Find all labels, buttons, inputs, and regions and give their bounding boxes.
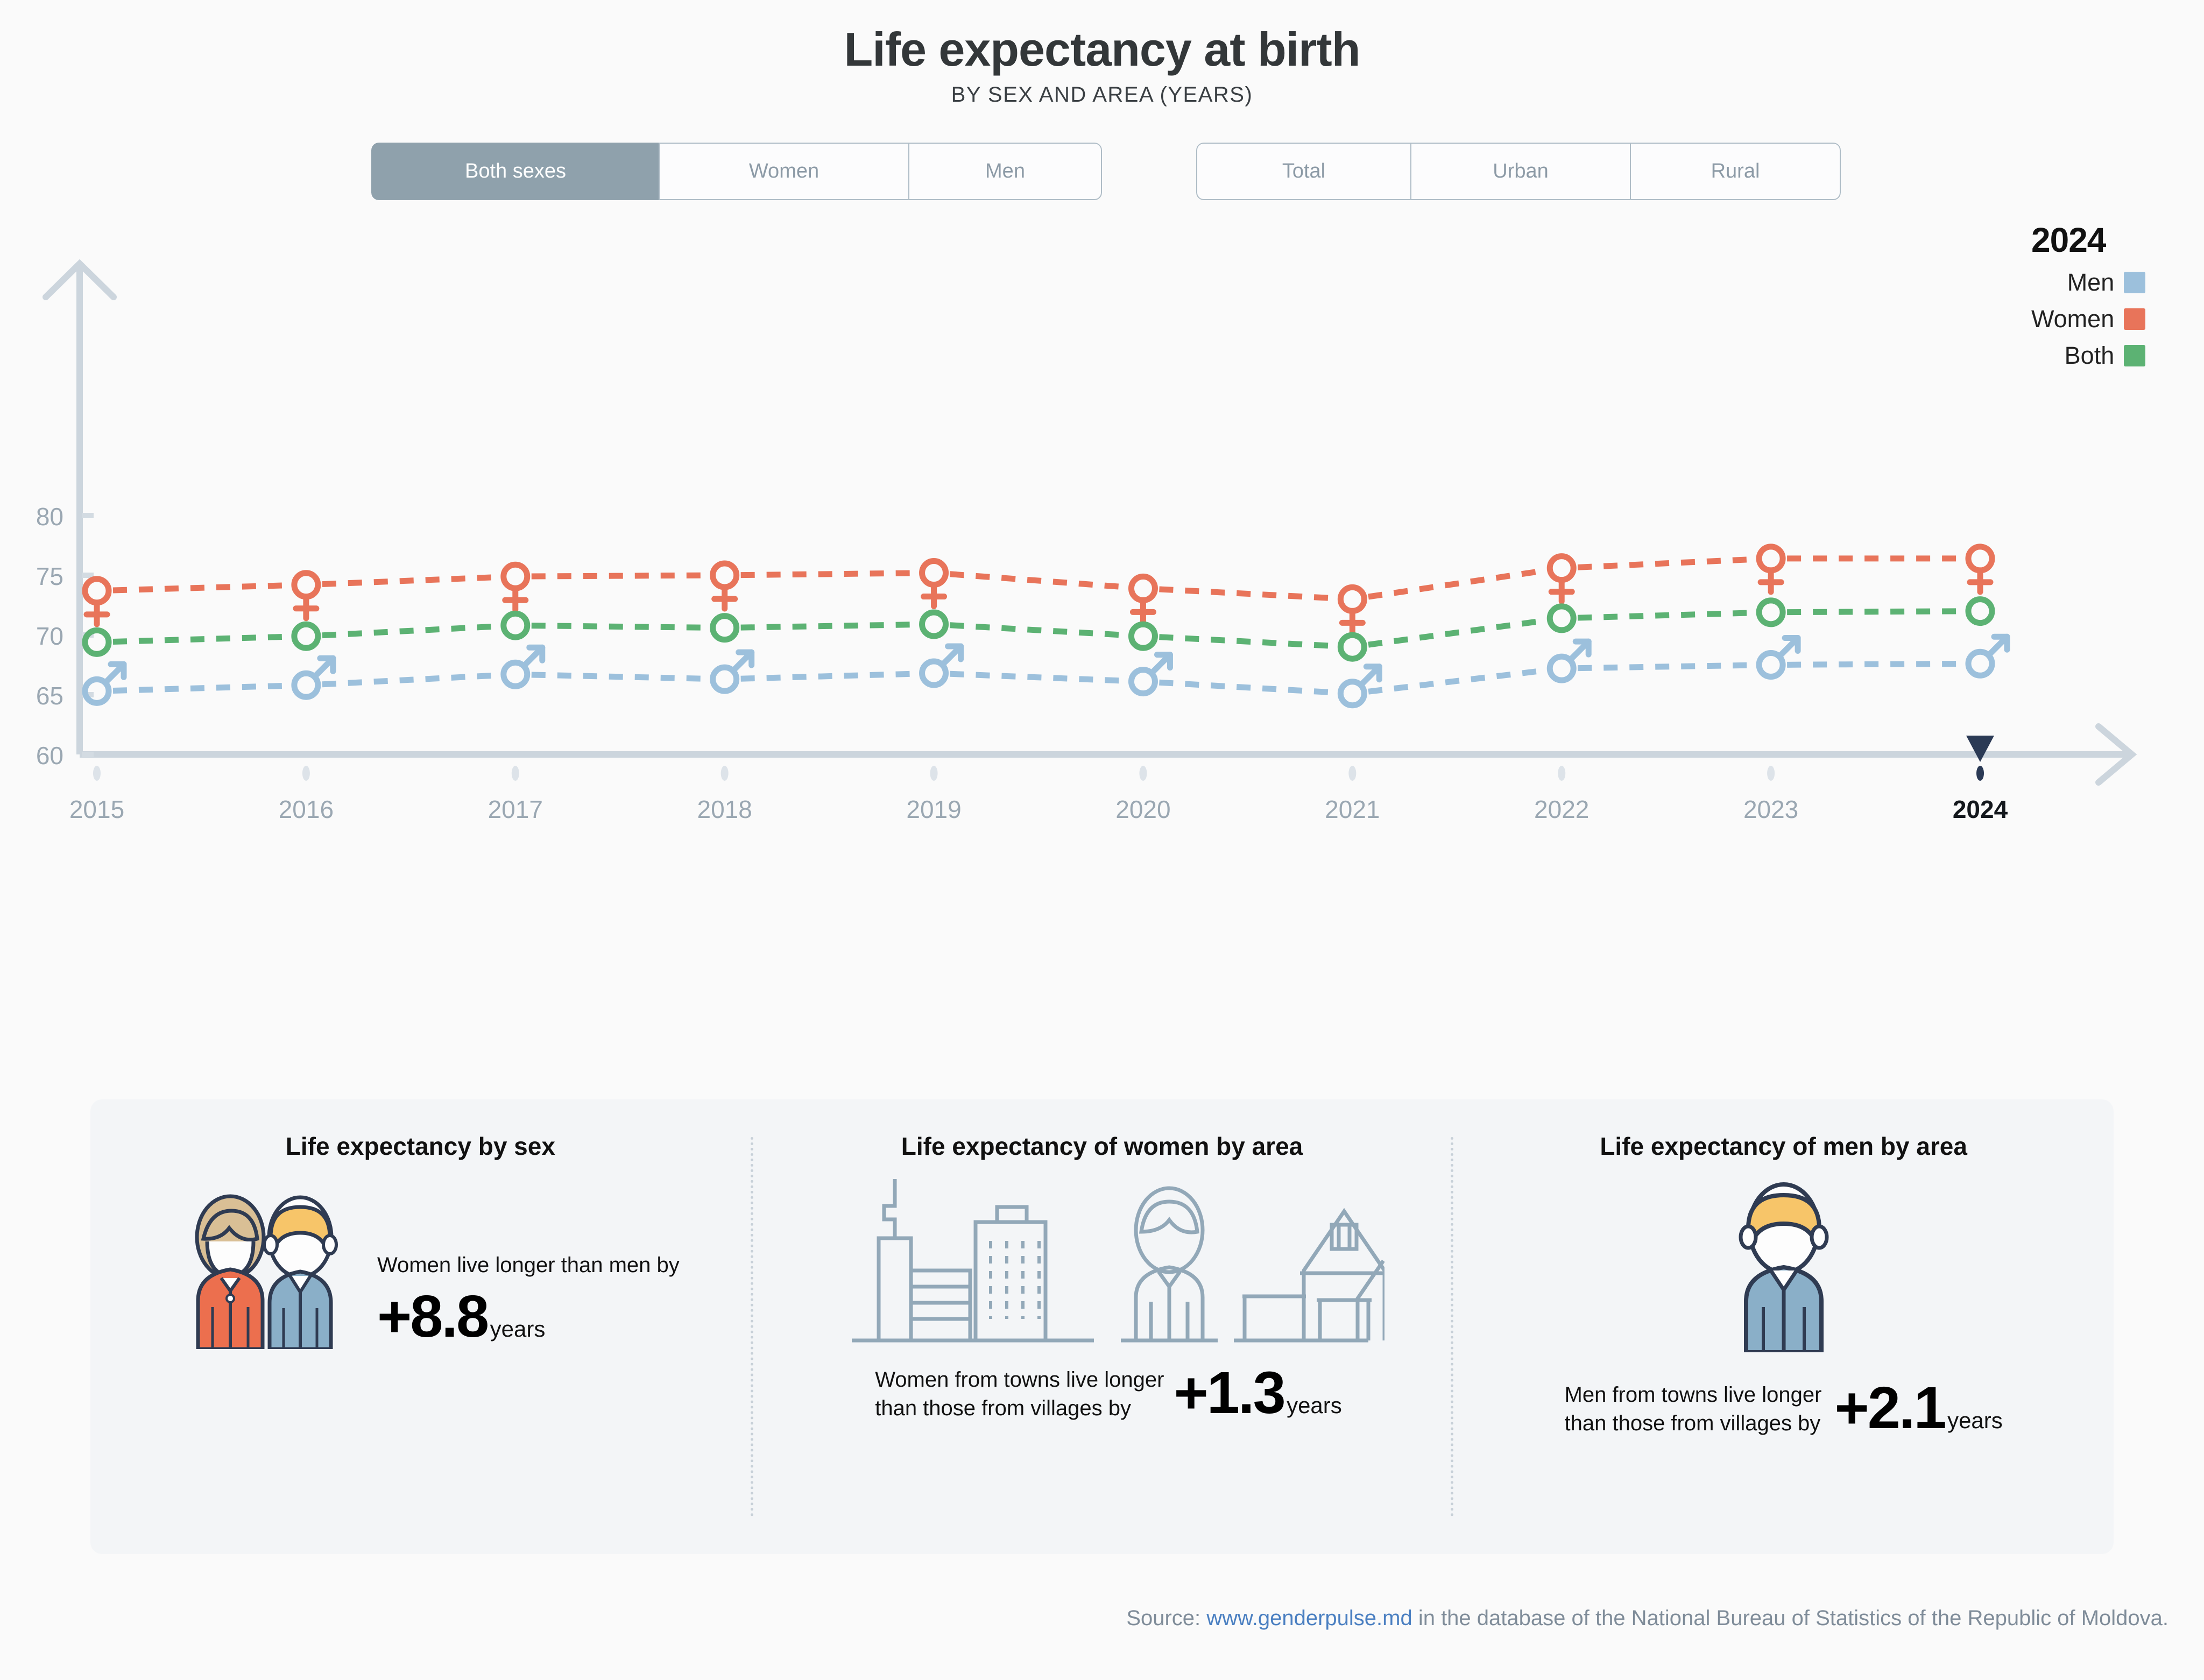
area-toggle-group: Total Urban Rural [1196,143,1841,200]
series-both [85,599,1992,659]
venus-marker[interactable] [1550,556,1573,602]
circle-marker[interactable] [294,625,318,648]
filter-toolbar: Both sexes Women Men Total Urban Rural [0,143,2204,200]
x-axis-tick-label: 2018 [697,795,752,823]
circle-marker[interactable] [1340,636,1364,659]
mars-marker[interactable] [1550,642,1588,681]
x-axis-tick-label: 2021 [1325,795,1380,823]
x-axis-tick-label: 2020 [1115,795,1170,823]
summary-text-3: Men from towns live longer than those fr… [1565,1381,1822,1438]
source-suffix: in the database of the National Bureau o… [1412,1606,2168,1630]
venus-marker[interactable] [1759,547,1783,592]
city-woman-village-icon [820,1174,1384,1354]
venus-marker[interactable] [85,579,109,624]
legend-swatch-both [2124,345,2145,366]
summary-card-by-sex: Life expectancy by sex [90,1099,751,1554]
summary-text-3-line1: Men from towns live longer [1565,1381,1822,1409]
y-axis-tick-label: 65 [36,682,63,710]
summary-value-2: +1.3 [1174,1360,1284,1426]
venus-marker[interactable] [294,573,318,618]
summary-unit-2: years [1287,1393,1342,1418]
sex-toggle-both-sexes[interactable]: Both sexes [371,143,660,200]
mars-marker[interactable] [922,646,961,685]
page-header: Life expectancy at birth BY SEX AND AREA… [0,0,2204,107]
area-toggle-rural[interactable]: Rural [1630,143,1841,200]
circle-marker[interactable] [713,616,737,640]
circle-marker[interactable] [1550,606,1573,630]
legend-label-women: Women [2031,305,2114,333]
summary-card-title-1: Life expectancy by sex [90,1132,751,1161]
summary-value-1: +8.8 [377,1283,488,1350]
summary-value-3: +2.1 [1834,1375,1945,1441]
woman-and-man-icon [174,1188,362,1352]
legend-item-women[interactable]: Women [2031,305,2145,333]
page-title: Life expectancy at birth [0,25,2204,74]
y-axis-tick-label: 60 [36,742,63,770]
summary-unit-3: years [1947,1408,2003,1433]
circle-marker[interactable] [1759,601,1783,624]
area-toggle-urban[interactable]: Urban [1410,143,1631,200]
summary-card-men-by-area: Life expectancy of men by area [1453,1099,2114,1554]
summary-panel: Life expectancy by sex [90,1099,2114,1554]
x-axis-tick-label: 2024 [1953,795,2008,823]
page-subtitle: BY SEX AND AREA (YEARS) [0,83,2204,107]
y-axis-tick-label: 80 [36,503,63,531]
summary-unit-1: years [490,1316,546,1342]
summary-text-2-line1: Women from towns live longer [875,1366,1164,1394]
circle-marker[interactable] [504,614,527,638]
legend-item-men[interactable]: Men [2031,269,2145,297]
summary-card-title-3: Life expectancy of men by area [1453,1132,2114,1161]
mars-marker[interactable] [1131,655,1170,694]
source-link[interactable]: www.genderpulse.md [1206,1606,1412,1630]
y-axis-tick-label: 75 [36,562,63,590]
mars-marker[interactable] [294,659,333,697]
x-axis-tick-label: 2023 [1743,795,1798,823]
venus-marker[interactable] [713,563,737,609]
circle-marker[interactable] [85,631,109,654]
area-toggle-total[interactable]: Total [1196,143,1411,200]
legend-label-men: Men [2067,269,2115,297]
mars-marker[interactable] [713,653,752,691]
summary-text-2: Women from towns live longer than those … [875,1366,1164,1423]
circle-marker[interactable] [1131,625,1155,648]
venus-marker[interactable] [922,561,946,606]
venus-marker[interactable] [1968,547,1992,592]
venus-marker[interactable] [504,565,527,610]
chart-canvas: 6065707580201520162017201820192020202120… [0,216,2204,824]
summary-card-title-2: Life expectancy of women by area [753,1132,1451,1161]
mars-marker[interactable] [1759,638,1798,677]
mars-marker[interactable] [504,648,542,687]
series-men [85,637,2007,706]
summary-text-2-line2: than those from villages by [875,1394,1164,1423]
source-note: Source: www.genderpulse.md in the databa… [0,1606,2168,1630]
legend-year-label: 2024 [2031,220,2145,260]
summary-card-women-by-area: Life expectancy of women by area [753,1099,1451,1554]
legend-item-both[interactable]: Both [2031,342,2145,370]
x-axis-tick-label: 2022 [1534,795,1589,823]
line-chart: 6065707580201520162017201820192020202120… [0,216,2204,824]
chart-legend: 2024 Men Women Both [2031,220,2145,370]
summary-text-3-line2: than those from villages by [1565,1409,1822,1438]
mars-marker[interactable] [1340,667,1379,705]
sex-toggle-men[interactable]: Men [908,143,1102,200]
summary-text-1: Women live longer than men by [377,1251,680,1280]
circle-marker[interactable] [1968,599,1992,623]
y-axis-tick-label: 70 [36,622,63,650]
venus-marker[interactable] [1340,588,1364,633]
circle-marker[interactable] [922,612,946,636]
legend-swatch-women [2124,308,2145,330]
x-axis-tick-label: 2016 [279,795,334,823]
man-icon [1719,1175,1848,1355]
series-women [85,547,1992,632]
legend-label-both: Both [2065,342,2115,370]
mars-marker[interactable] [1968,637,2007,676]
sex-toggle-women[interactable]: Women [659,143,909,200]
source-prefix: Source: [1126,1606,1206,1630]
x-axis-tick-label: 2015 [69,795,124,823]
venus-marker[interactable] [1131,577,1155,622]
x-axis-tick-label: 2019 [906,795,961,823]
legend-swatch-men [2124,272,2145,293]
x-axis-tick-label: 2017 [488,795,543,823]
sex-toggle-group: Both sexes Women Men [371,143,1102,200]
